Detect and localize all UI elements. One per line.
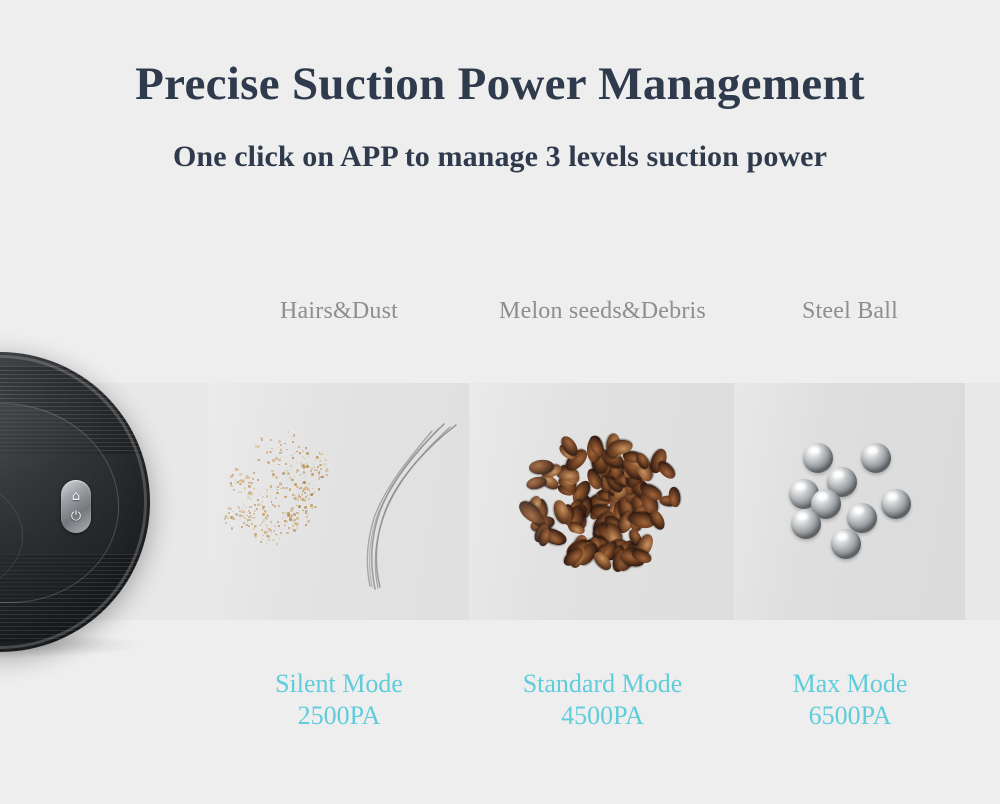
mode-power-standard: 4500PA — [470, 700, 735, 732]
steel-ball — [861, 443, 891, 473]
steel-ball — [791, 509, 821, 539]
melon-seed — [655, 459, 679, 483]
power-icon[interactable]: ⏻ — [61, 510, 91, 523]
mode-power-silent: 2500PA — [208, 700, 470, 732]
product-feature-banner: Precise Suction Power Management One cli… — [0, 0, 1000, 804]
mode-standard: Standard Mode 4500PA — [470, 668, 735, 731]
robot-button-panel[interactable]: ⌂ ⏻ — [61, 480, 91, 533]
steel-ball — [831, 529, 861, 559]
mode-silent: Silent Mode 2500PA — [208, 668, 470, 731]
sample-tile-hairs-dust — [208, 383, 469, 620]
sample-tile-steel-ball — [735, 383, 965, 620]
robot-body: ABIR ⌂ ⏻ — [0, 352, 150, 652]
mode-name-standard: Standard Mode — [470, 668, 735, 700]
melon-seeds-graphic — [519, 427, 685, 577]
page-subtitle: One click on APP to manage 3 levels suct… — [0, 140, 1000, 174]
home-icon[interactable]: ⌂ — [61, 490, 91, 503]
melon-seed — [525, 475, 548, 492]
steel-ball — [847, 503, 877, 533]
mode-name-silent: Silent Mode — [208, 668, 470, 700]
steel-ball — [803, 443, 833, 473]
page-title: Precise Suction Power Management — [0, 58, 1000, 111]
column-header-steel-ball: Steel Ball — [735, 298, 965, 325]
mode-power-max: 6500PA — [735, 700, 965, 732]
steel-ball — [881, 489, 911, 519]
steel-balls-graphic — [775, 437, 925, 567]
sample-tile-melon-seeds — [470, 383, 734, 620]
mode-max: Max Mode 6500PA — [735, 668, 965, 731]
column-header-hairs-dust: Hairs&Dust — [208, 298, 470, 325]
mode-labels-row: Silent Mode 2500PA Standard Mode 4500PA … — [208, 668, 965, 731]
sample-headers-row: Hairs&Dust Melon seeds&Debris Steel Ball — [208, 298, 965, 325]
hair-strands-svg — [360, 421, 465, 591]
hair-strands-graphic — [360, 421, 465, 591]
robot-vacuum-product-image: ABIR ⌂ ⏻ — [0, 352, 150, 652]
column-header-melon-seeds: Melon seeds&Debris — [470, 298, 735, 325]
melon-seed — [647, 508, 667, 532]
dust-particles-graphic — [222, 431, 372, 571]
mode-name-max: Max Mode — [735, 668, 965, 700]
